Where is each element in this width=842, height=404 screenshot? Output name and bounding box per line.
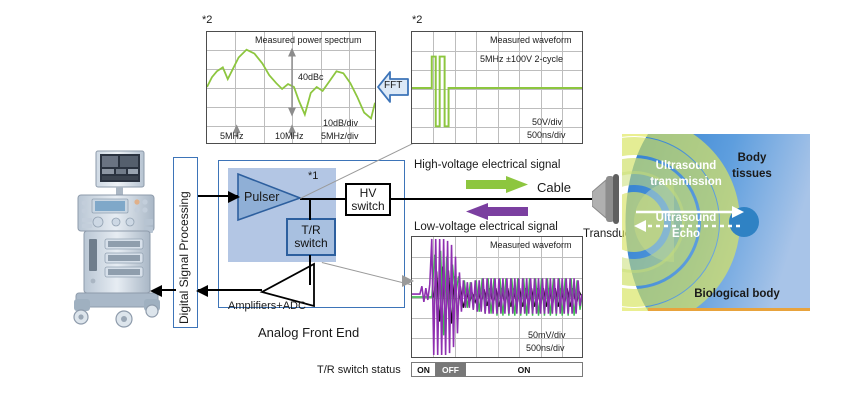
transducer-icon bbox=[592, 170, 626, 228]
high-voltage-signal-label: High-voltage electrical signal bbox=[414, 159, 560, 171]
note-marker-star2b: *2 bbox=[412, 14, 422, 26]
arrowhead-amp-to-dsp bbox=[196, 284, 208, 296]
tr-switch-block: T/R switch bbox=[286, 218, 336, 256]
power-spectrum-xtick-10mhz: 10MHz bbox=[275, 131, 304, 141]
ultrasound-echo-label-line1: Ultrasound bbox=[636, 212, 736, 224]
wire-node-to-tr bbox=[309, 198, 311, 220]
analog-front-end-title: Analog Front End bbox=[258, 325, 359, 340]
hv-switch-label-line1: HV bbox=[360, 187, 377, 200]
biological-body-label: Biological body bbox=[682, 288, 792, 300]
fft-label: FFT bbox=[384, 80, 402, 91]
receive-arrow bbox=[466, 203, 528, 220]
status-segment-on-1: ON bbox=[412, 363, 436, 376]
digital-signal-processing-label: Digital Signal Processing bbox=[177, 162, 191, 324]
wire-pulser-to-hv bbox=[300, 198, 346, 200]
ultrasound-machine bbox=[64, 143, 170, 331]
power-spectrum-xtick-5mhz: 5MHz bbox=[220, 131, 244, 141]
lv-waveform-title: Measured waveform bbox=[490, 240, 572, 250]
body-tissues-label-line1: Body bbox=[722, 152, 782, 164]
pulser-label: Pulser bbox=[244, 190, 279, 204]
hv-switch-label-line2: switch bbox=[351, 200, 384, 213]
status-segment-on-2: ON bbox=[466, 363, 582, 376]
power-spectrum-annotation: 40dBc bbox=[298, 72, 324, 82]
power-spectrum-title: Measured power spectrum bbox=[255, 35, 362, 45]
hv-switch-box: HV switch bbox=[345, 183, 391, 216]
wire-tr-to-amp bbox=[309, 255, 311, 285]
amplifiers-adc-label: Amplifiers+ADC bbox=[228, 300, 306, 312]
hv-waveform-title: Measured waveform bbox=[490, 35, 572, 45]
arrowhead-dsp-to-machine bbox=[150, 284, 162, 296]
hv-waveform-yscale: 50V/div bbox=[532, 117, 562, 127]
hv-waveform-xscale: 500ns/div bbox=[527, 130, 566, 140]
wire-hv-to-cable bbox=[390, 198, 595, 200]
tr-switch-status-bar: ON OFF ON bbox=[411, 362, 583, 377]
transmit-arrow bbox=[466, 176, 528, 193]
power-spectrum-yscale: 10dB/div bbox=[323, 118, 358, 128]
note-marker-star1: *1 bbox=[308, 170, 318, 182]
arrowhead-dsp-to-pulser bbox=[228, 190, 240, 202]
hv-waveform-chart: Measured waveform 5MHz ±100V 2-cycle 50V… bbox=[411, 31, 583, 144]
tr-switch-label-line2: switch bbox=[294, 237, 327, 250]
ultrasound-transmission-label-line2: transmission bbox=[636, 176, 736, 188]
tr-switch-status-label: T/R switch status bbox=[317, 364, 401, 376]
cable-label: Cable bbox=[537, 180, 571, 195]
ultrasound-echo-label-line2: Echo bbox=[636, 228, 736, 240]
power-spectrum-xscale: 5MHz/div bbox=[321, 131, 359, 141]
power-spectrum-chart: Measured power spectrum 40dBc 5MHz 10MHz… bbox=[206, 31, 376, 144]
lv-waveform-yscale: 50mV/div bbox=[528, 330, 566, 340]
lv-waveform-chart: Measured waveform 50mV/div 500ns/div bbox=[411, 236, 583, 358]
status-segment-off: OFF bbox=[436, 363, 466, 376]
lv-chart-input-arrow bbox=[402, 274, 414, 286]
lv-waveform-xscale: 500ns/div bbox=[526, 343, 565, 353]
ultrasound-transmission-label-line1: Ultrasound bbox=[636, 160, 736, 172]
body-tissues-label-line2: tissues bbox=[722, 168, 782, 180]
hv-waveform-annotation: 5MHz ±100V 2-cycle bbox=[480, 54, 563, 64]
note-marker-star2a: *2 bbox=[202, 14, 212, 26]
low-voltage-signal-label: Low-voltage electrical signal bbox=[414, 221, 558, 233]
